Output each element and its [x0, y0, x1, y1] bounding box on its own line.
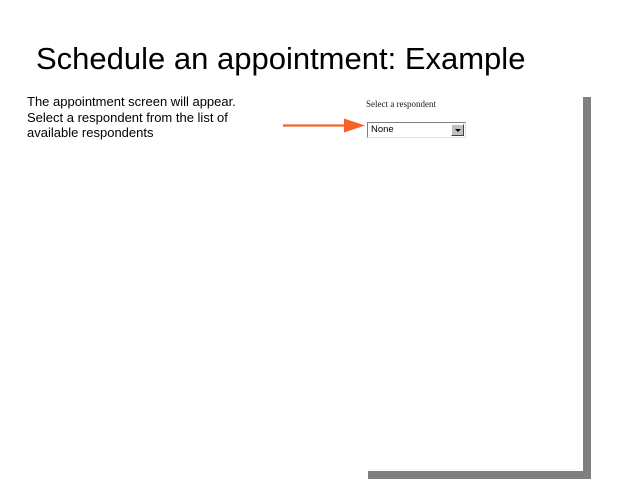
frame-bar-vertical	[583, 97, 591, 471]
frame-bar-horizontal	[368, 471, 591, 479]
arrow-right-icon	[282, 116, 368, 134]
respondent-dropdown-value: None	[368, 124, 451, 136]
body-text: The appointment screen will appear. Sele…	[27, 94, 255, 141]
page-title: Schedule an appointment: Example	[36, 41, 616, 77]
respondent-dropdown[interactable]: None	[367, 122, 466, 138]
slide-canvas: Schedule an appointment: Example The app…	[0, 0, 640, 480]
respondent-field-label: Select a respondent	[366, 99, 436, 110]
chevron-down-icon[interactable]	[451, 124, 464, 136]
